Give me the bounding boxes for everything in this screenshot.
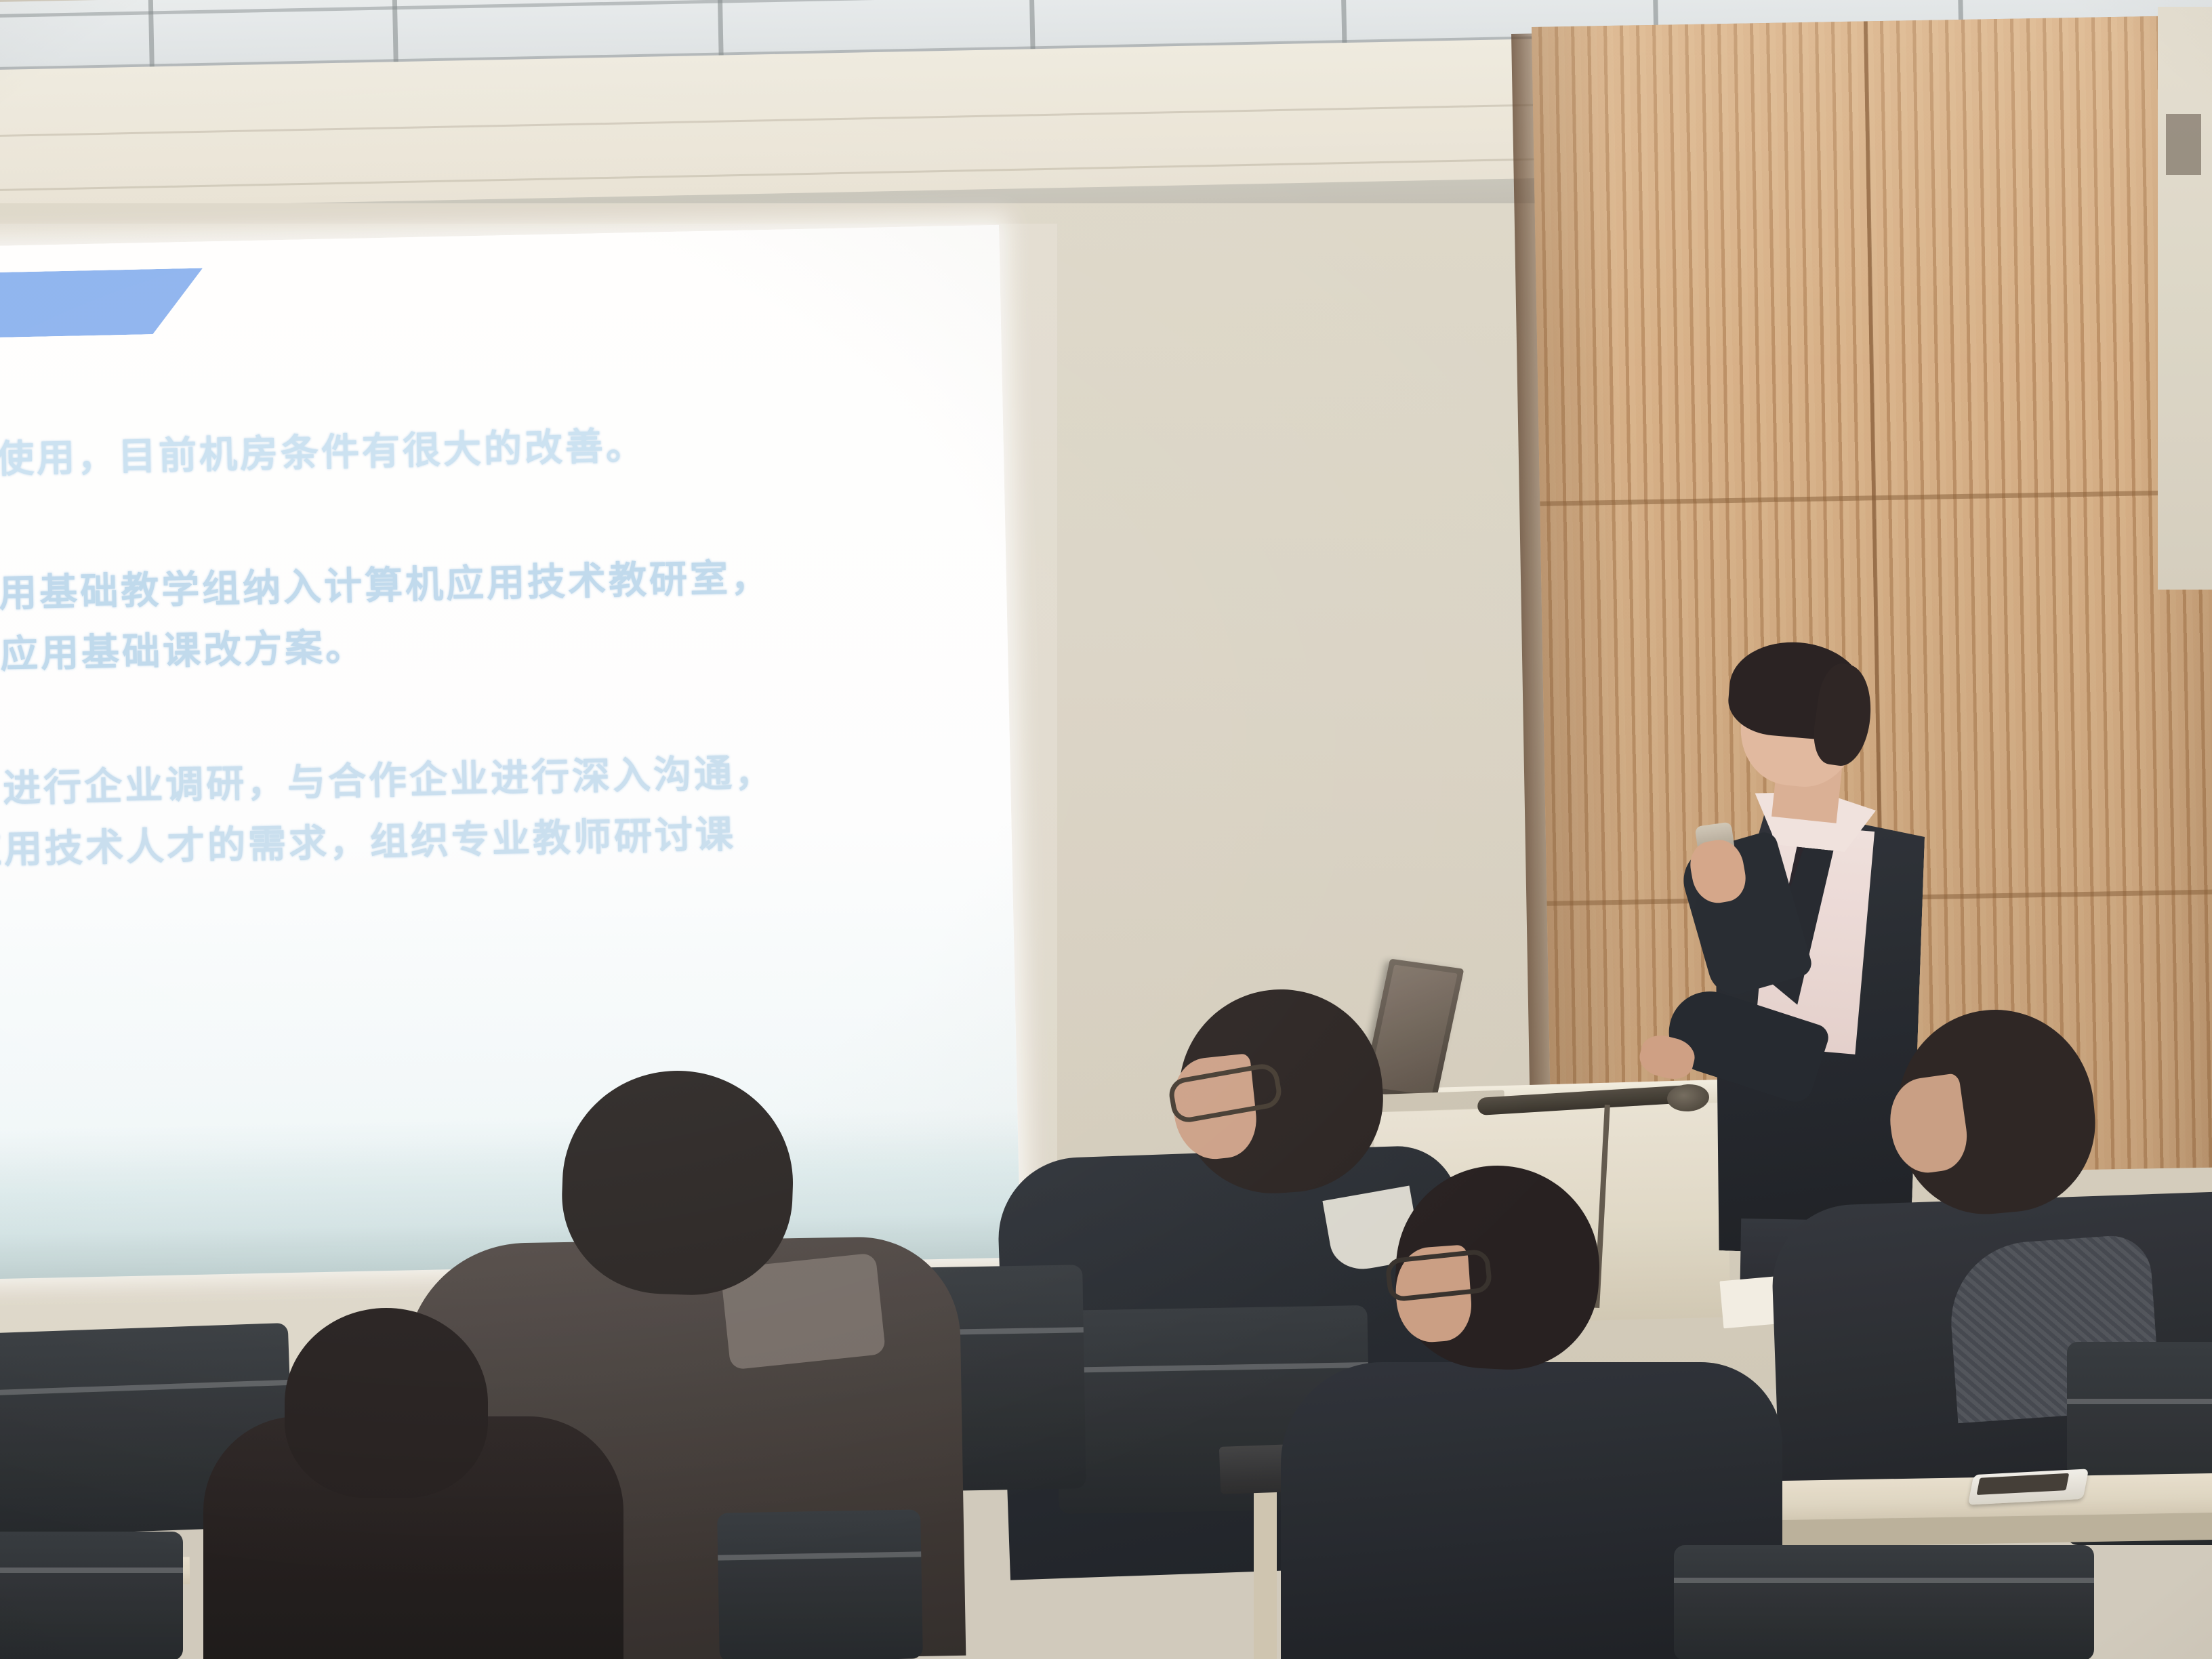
chair xyxy=(717,1509,923,1659)
slide-body-text: 投入使用，目前机房条件有很大的改善。 机应用基础教学组纳入计算机应用技术教研室，… xyxy=(0,409,981,883)
phone-screen xyxy=(1977,1473,2070,1495)
smartphone-on-desk xyxy=(1968,1469,2089,1504)
chair-highlight xyxy=(1057,1362,1368,1373)
slide-paragraph-3: 下，进行企业调研，与合作企业进行深入沟通， 机应用技术人才的需求，组织专业教师研… xyxy=(0,739,981,883)
wall-fixture xyxy=(2166,114,2201,175)
chair-highlight xyxy=(2067,1399,2212,1404)
chair-highlight xyxy=(0,1568,183,1573)
right-wall-strip xyxy=(2158,7,2212,590)
chair xyxy=(1674,1545,2094,1659)
audience-head xyxy=(285,1308,488,1498)
chair-highlight xyxy=(0,1380,290,1396)
chair-highlight xyxy=(718,1551,921,1560)
chair xyxy=(0,1532,183,1659)
desk-leg xyxy=(1254,1477,1277,1659)
presenter xyxy=(1687,637,1931,1281)
slide-paragraph-2: 机应用基础教学组纳入计算机应用技术教研室， 算机应用基础课改方案。 xyxy=(0,544,977,688)
presentation-room-photo: 投入使用，目前机房条件有很大的改善。 机应用基础教学组纳入计算机应用技术教研室，… xyxy=(0,0,2212,1659)
chair-highlight xyxy=(1674,1578,2094,1583)
